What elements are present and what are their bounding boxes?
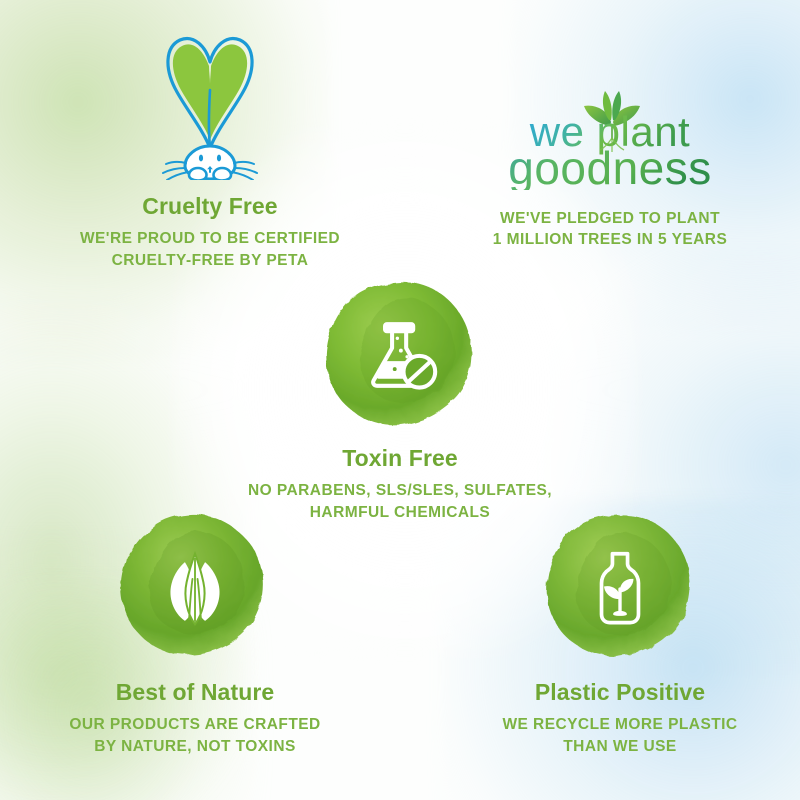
flask-no-toxins-icon [323,278,477,432]
badge-best-of-nature: Best of Nature OUR PRODUCTS ARE CRAFTED … [25,512,365,757]
badge-body-line: WE RECYCLE MORE PLASTIC [450,714,790,735]
badge-body-line: No PARABENS, SLS/SLES, SULFATES, [230,480,570,501]
bottle-with-sprout-icon [543,512,697,666]
badge-plastic-positive: Plastic Positive WE RECYCLE MORE PLASTIC… [450,512,790,757]
three-leaves-icon [118,512,272,666]
badge-we-plant-goodness: we plant goodness WE'VE PLEDGED TO PLANT… [440,80,780,251]
badge-body-cruelty-free: WE'RE PROUD TO BE CERTIFIED CRUELTY-FREE… [40,228,380,271]
badge-body-line: CRUELTY-FREE BY PETA [40,250,380,271]
badge-toxin-free: Toxin Free No PARABENS, SLS/SLES, SULFAT… [230,278,570,523]
badge-body-line: OUR PRODUCTS ARE CRAFTED [25,714,365,735]
sustainability-claims-poster: Cruelty Free WE'RE PROUD TO BE CERTIFIED… [0,0,800,800]
badge-title-cruelty-free: Cruelty Free [40,194,380,219]
peta-cruelty-free-bunny-icon [130,20,290,180]
badge-body-line: WE'VE PLEDGED TO PLANT [440,208,780,229]
logo-line-2: goodness [508,142,712,190]
badge-title-toxin-free: Toxin Free [230,446,570,471]
badge-body-we-plant-goodness: WE'VE PLEDGED TO PLANT 1 MILLION TREES I… [440,208,780,251]
best-of-nature-disc [118,512,272,666]
badge-body-best-of-nature: OUR PRODUCTS ARE CRAFTED BY NATURE, NOT … [25,714,365,757]
badge-body-line: THAN WE USE [450,736,790,757]
badge-body-line: 1 MILLION TREES IN 5 YEARS [440,229,780,250]
toxin-free-disc [323,278,477,432]
badge-body-line: BY NATURE, NOT TOXINS [25,736,365,757]
badge-cruelty-free: Cruelty Free WE'RE PROUD TO BE CERTIFIED… [40,20,380,271]
badge-body-line: WE'RE PROUD TO BE CERTIFIED [40,228,380,249]
badge-title-best-of-nature: Best of Nature [25,680,365,705]
plastic-positive-disc [543,512,697,666]
badge-title-plastic-positive: Plastic Positive [450,680,790,705]
badge-body-plastic-positive: WE RECYCLE MORE PLASTIC THAN WE USE [450,714,790,757]
we-plant-goodness-logo: we plant goodness [460,80,760,190]
